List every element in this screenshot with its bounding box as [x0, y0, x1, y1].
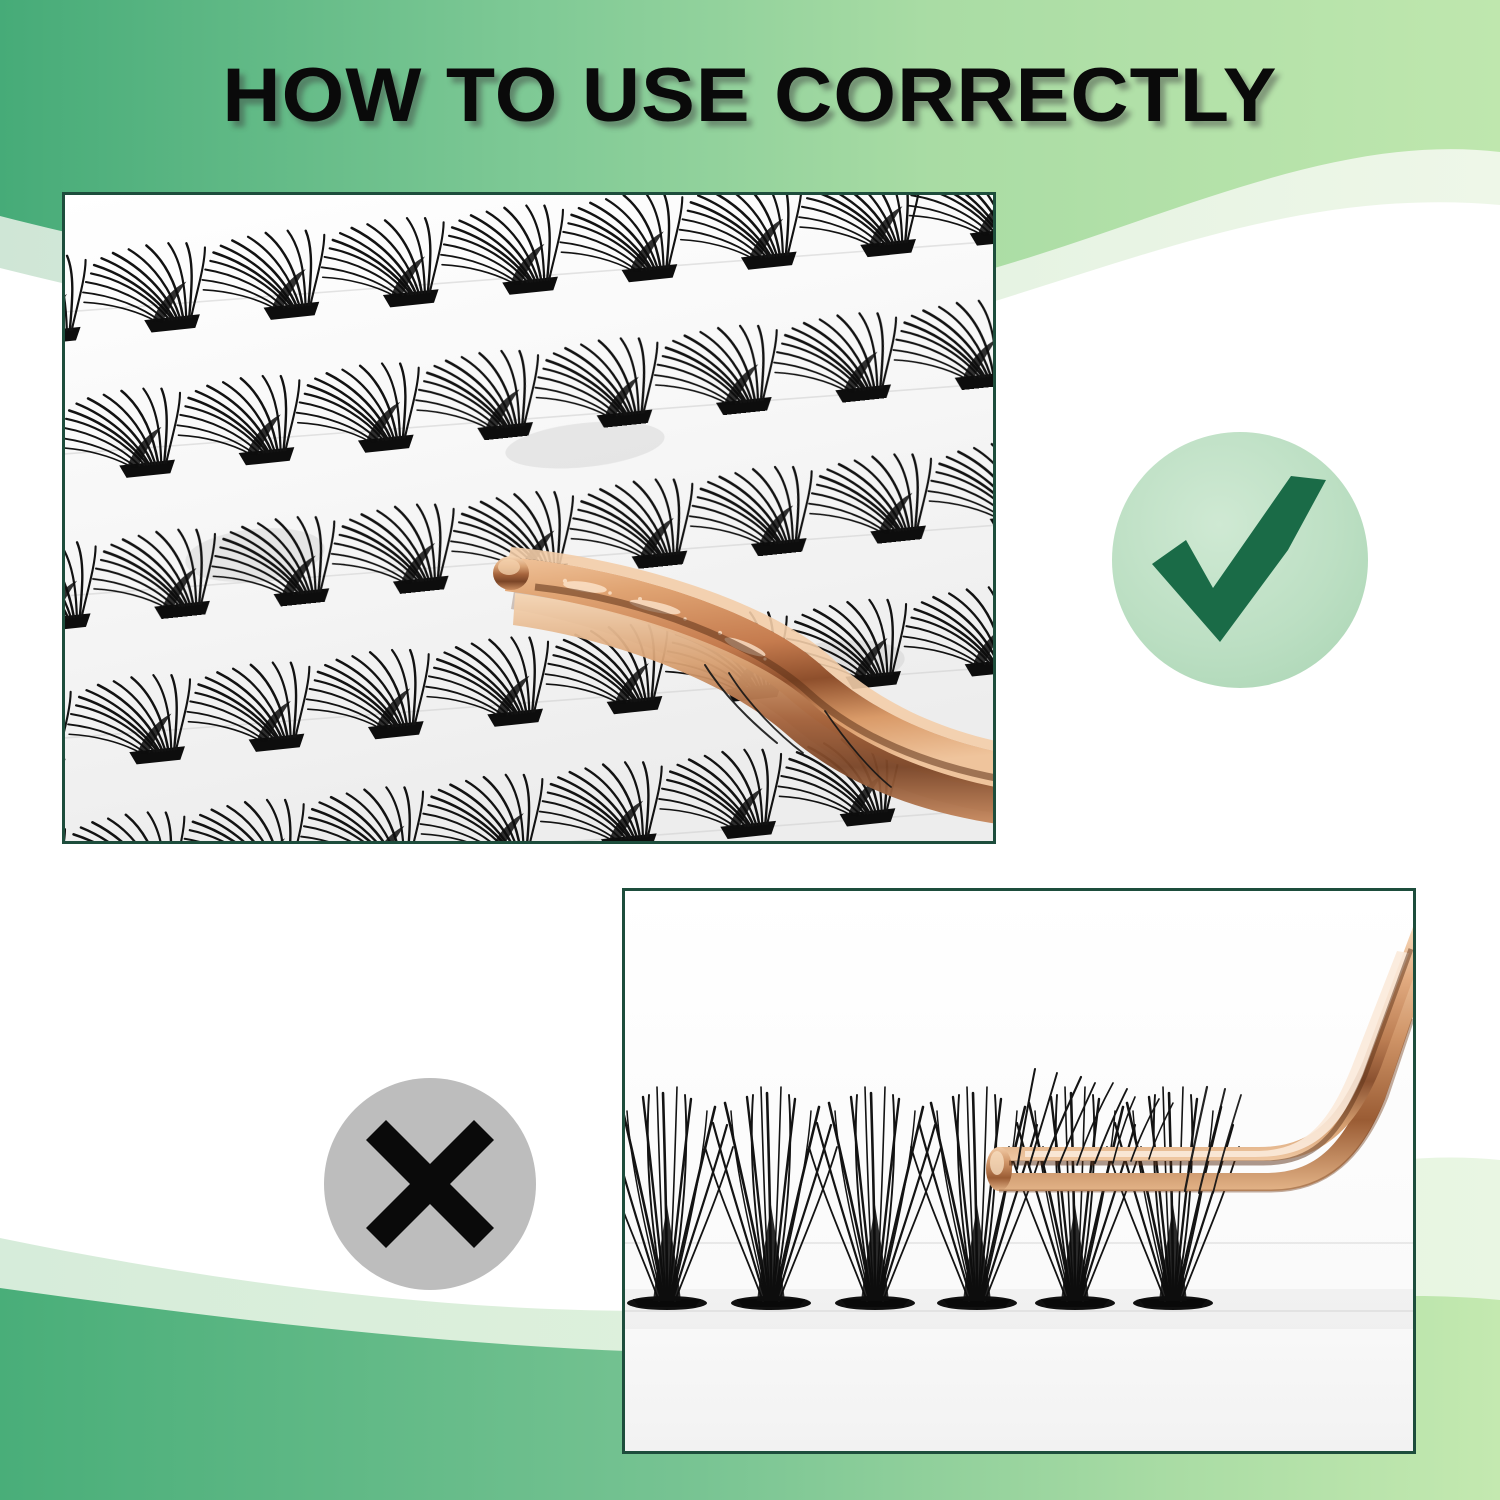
check-icon: [1112, 432, 1368, 688]
status-badge-correct: [1112, 432, 1368, 688]
incorrect-method-photo: [622, 888, 1416, 1454]
x-icon: [324, 1078, 536, 1290]
lash-row-side-view-illustration: [625, 891, 1413, 1451]
page-title: HOW TO USE CORRECTLY: [0, 52, 1500, 139]
correct-method-photo: [62, 192, 996, 844]
infographic-stage: HOW TO USE CORRECTLY: [0, 0, 1500, 1500]
status-badge-incorrect: [324, 1078, 536, 1290]
lash-tray-top-view-illustration: [65, 195, 993, 841]
